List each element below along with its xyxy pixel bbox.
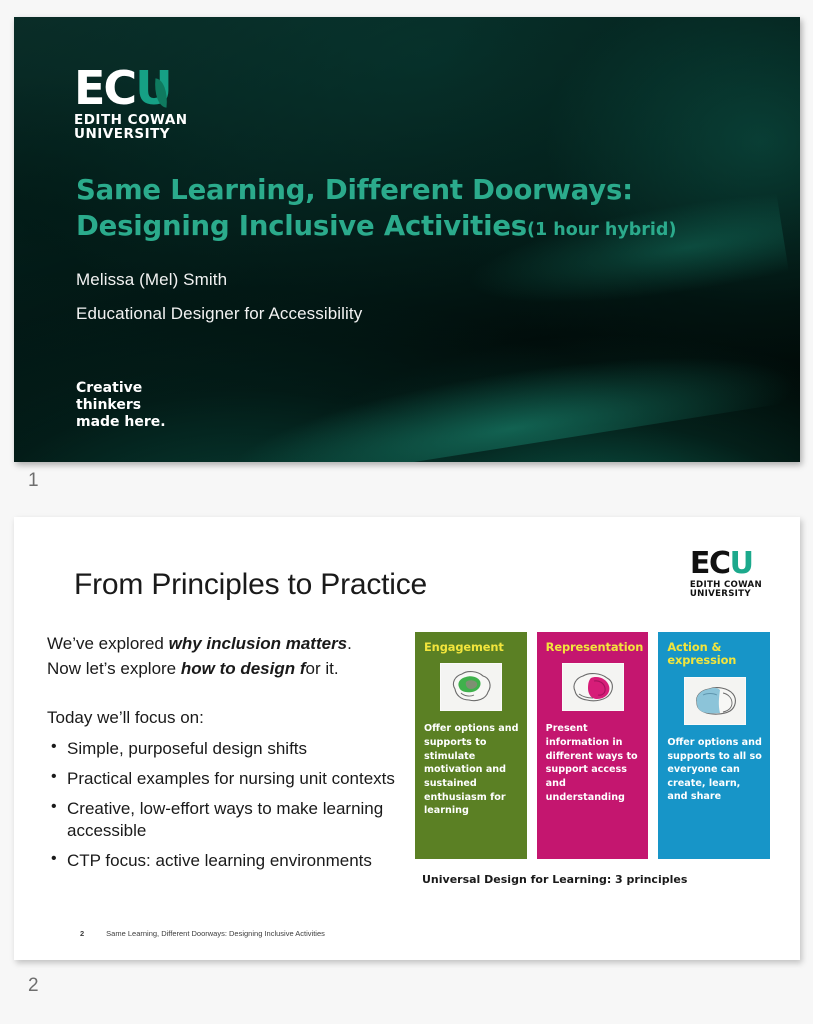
udl-principles-figure: Engagement Offer options and supports to…: [415, 632, 770, 886]
ecu-wordmark-slide-2: EC U: [690, 549, 762, 579]
udl-card-engagement: Engagement Offer options and supports to…: [415, 632, 527, 859]
udl-card-representation: Representation Present information in di…: [537, 632, 649, 859]
intro-line-1-c: .: [347, 634, 352, 653]
intro-line-1-a: We’ve explored: [47, 634, 169, 653]
udl-figure-caption: Universal Design for Learning: 3 princip…: [422, 873, 770, 886]
intro-line-2-emphasis: how to design f: [181, 659, 306, 678]
brain-representation-icon: [562, 663, 624, 711]
list-item: Practical examples for nursing unit cont…: [47, 768, 407, 789]
slide-2-footer: 2 Same Learning, Different Doorways: Des…: [80, 929, 325, 938]
title-duration: (1 hour hybrid): [527, 220, 676, 240]
ecu-subtitle-slide-2-line-2: UNIVERSITY: [690, 590, 762, 599]
slide-number-1: 1: [28, 470, 39, 492]
udl-card-body: Offer options and supports to stimulate …: [424, 722, 519, 817]
udl-card-heading: Engagement: [424, 641, 519, 654]
title-line-2: Designing Inclusive Activities: [76, 210, 527, 242]
list-item: CTP focus: active learning environments: [47, 850, 407, 871]
udl-card-action-expression: Action & expression Offer options and su…: [658, 632, 770, 859]
intro-line-2-c: or it.: [306, 659, 339, 678]
udl-card-heading: Action & expression: [667, 641, 762, 668]
focus-heading: Today we’ll focus on:: [47, 708, 407, 728]
footer-slide-number: 2: [80, 929, 84, 938]
slide-1-title: Same Learning, Different Doorways: Desig…: [76, 172, 736, 245]
slide-number-2: 2: [28, 975, 39, 997]
intro-paragraph: We’ve explored why inclusion matters. No…: [47, 632, 407, 681]
ecu-logo: EC U EDITH COWAN UNIVERSITY: [74, 65, 188, 142]
focus-bullet-list: Simple, purposeful design shifts Practic…: [47, 738, 407, 870]
tagline-line-3: made here.: [76, 414, 166, 431]
ecu-logo-slide-2: EC U EDITH COWAN UNIVERSITY: [690, 549, 762, 599]
presenter-name: Melissa (Mel) Smith: [76, 270, 227, 290]
ecu-wordmark: EC U: [74, 65, 188, 111]
slide-deck-page: EC U EDITH COWAN UNIVERSITY Same Learnin…: [0, 0, 813, 1024]
intro-line-1-emphasis: why inclusion matters: [169, 634, 348, 653]
footer-deck-title: Same Learning, Different Doorways: Desig…: [106, 929, 325, 938]
udl-card-body: Offer options and supports to all so eve…: [667, 736, 762, 804]
slide-2[interactable]: EC U EDITH COWAN UNIVERSITY From Princip…: [14, 517, 800, 960]
ecu-subtitle: EDITH COWAN UNIVERSITY: [74, 114, 188, 142]
list-item: Creative, low-effort ways to make learni…: [47, 798, 407, 840]
tagline-line-2: thinkers: [76, 397, 166, 414]
intro-line-2: Now let’s explore how to design for it.: [47, 657, 407, 682]
slide-2-title: From Principles to Practice: [74, 568, 427, 602]
brain-action-icon: [684, 677, 746, 725]
title-line-1: Same Learning, Different Doorways:: [76, 172, 736, 208]
ecu-subtitle-slide-2: EDITH COWAN UNIVERSITY: [690, 581, 762, 599]
udl-card-row: Engagement Offer options and supports to…: [415, 632, 770, 859]
ecu-letters-ec: EC: [74, 65, 135, 111]
ecu-subtitle-line-2: UNIVERSITY: [74, 128, 188, 142]
title-line-2-wrap: Designing Inclusive Activities(1 hour hy…: [76, 208, 736, 244]
slide-2-left-column: We’ve explored why inclusion matters. No…: [47, 632, 407, 880]
udl-card-heading: Representation: [546, 641, 641, 654]
intro-line-2-a: Now let’s explore: [47, 659, 181, 678]
tagline-line-1: Creative: [76, 380, 166, 397]
slide-1[interactable]: EC U EDITH COWAN UNIVERSITY Same Learnin…: [14, 17, 800, 462]
presenter-role: Educational Designer for Accessibility: [76, 304, 362, 324]
list-item: Simple, purposeful design shifts: [47, 738, 407, 759]
intro-line-1: We’ve explored why inclusion matters.: [47, 632, 407, 657]
udl-card-body: Present information in different ways to…: [546, 722, 641, 804]
ecu-tagline: Creative thinkers made here.: [76, 380, 166, 431]
brain-engagement-icon: [440, 663, 502, 711]
ecu-letters-ec-slide-2: EC: [690, 549, 730, 579]
